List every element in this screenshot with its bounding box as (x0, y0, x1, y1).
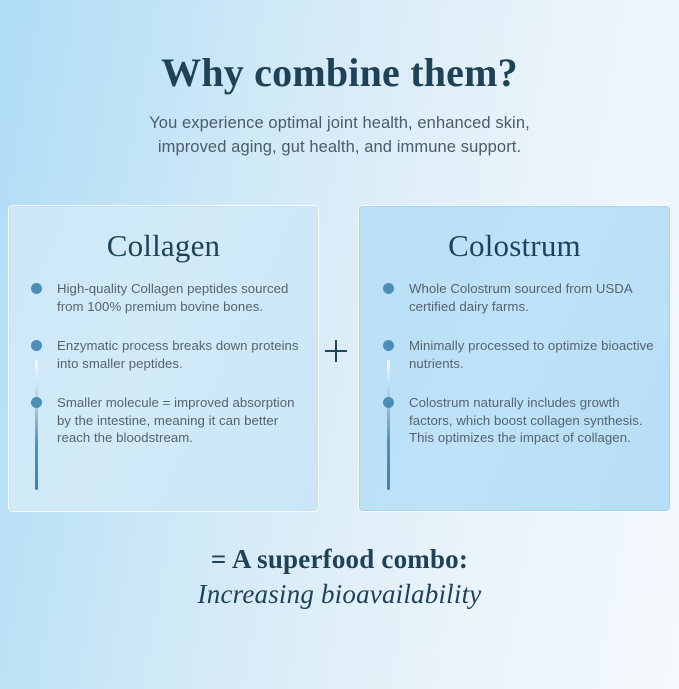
card-collagen-bullet-list: High-quality Collagen peptides sourced f… (9, 280, 318, 447)
footer-subline: Increasing bioavailability (0, 576, 679, 612)
list-item: Enzymatic process breaks down proteins i… (31, 337, 306, 372)
subtitle-line-1: You experience optimal joint health, enh… (0, 111, 679, 135)
list-item-label: High-quality Collagen peptides sourced f… (57, 280, 306, 315)
plus-icon (325, 340, 347, 362)
list-item: Minimally processed to optimize bioactiv… (383, 337, 658, 372)
bullet-dot-icon (31, 397, 42, 408)
list-item: Smaller molecule = improved absorption b… (31, 394, 306, 447)
bullet-dot-icon (31, 283, 42, 294)
list-item: Whole Colostrum sourced from USDA certif… (383, 280, 658, 315)
header-section: Why combine them? You experience optimal… (0, 50, 679, 159)
subtitle: You experience optimal joint health, enh… (0, 111, 679, 159)
page-title: Why combine them? (0, 50, 679, 96)
card-colostrum-title: Colostrum (359, 228, 670, 264)
bullet-dot-icon (383, 283, 394, 294)
bullet-dot-icon (383, 397, 394, 408)
card-collagen-title: Collagen (9, 228, 318, 264)
list-item-label: Minimally processed to optimize bioactiv… (409, 337, 658, 372)
card-colostrum: Colostrum Whole Colostrum sourced from U… (358, 205, 671, 512)
list-item-label: Smaller molecule = improved absorption b… (57, 394, 306, 447)
list-item: Colostrum naturally includes growth fact… (383, 394, 658, 447)
infographic-canvas: Why combine them? You experience optimal… (0, 0, 679, 689)
list-item-label: Colostrum naturally includes growth fact… (409, 394, 658, 447)
subtitle-line-2: improved aging, gut health, and immune s… (0, 135, 679, 159)
bullet-dot-icon (383, 340, 394, 351)
bullet-dot-icon (31, 340, 42, 351)
list-item-label: Enzymatic process breaks down proteins i… (57, 337, 306, 372)
list-item: High-quality Collagen peptides sourced f… (31, 280, 306, 315)
list-item-label: Whole Colostrum sourced from USDA certif… (409, 280, 658, 315)
footer-section: = A superfood combo: Increasing bioavail… (0, 543, 679, 612)
card-collagen: Collagen High-quality Collagen peptides … (8, 205, 319, 512)
footer-headline: = A superfood combo: (0, 543, 679, 576)
card-colostrum-bullet-list: Whole Colostrum sourced from USDA certif… (359, 280, 670, 447)
